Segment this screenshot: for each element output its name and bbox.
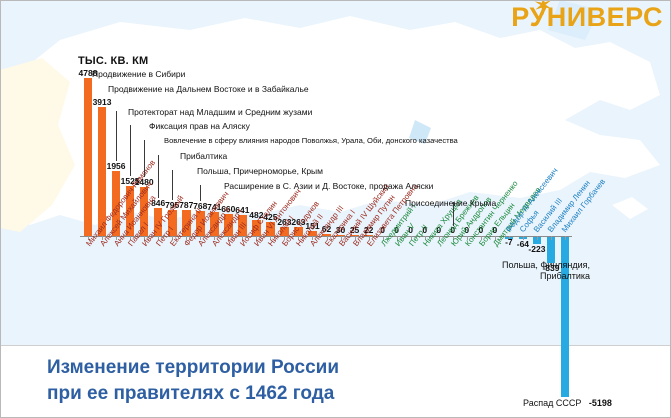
annotation-leader-line — [200, 185, 201, 201]
bar-value-label: 1956 — [101, 161, 131, 171]
page-title-line1: Изменение территории России — [47, 355, 339, 381]
bar-value-label: -223 — [522, 244, 552, 254]
annotation-text: Прибалтика — [180, 151, 227, 161]
axis-tick — [565, 236, 566, 240]
annotation-text: Польша, Причерноморье, Крым — [197, 166, 323, 176]
annotation-text: Продвижение на Дальнем Востоке и в Забай… — [108, 84, 309, 94]
annotation-leader-line — [158, 155, 159, 198]
page-title: Изменение территории России при ее прави… — [47, 355, 339, 406]
annotation-text: Присоединение Крыма — [405, 198, 496, 208]
annotation-leader-line — [130, 125, 131, 176]
ussr-collapse-note: Распад СССР -5198 — [523, 398, 612, 408]
annotation-text: Продвижение в Сибири — [92, 69, 185, 79]
y-axis-unit-label: ТЫС. КВ. КМ — [78, 55, 148, 67]
runivers-logo[interactable]: РУНИВЕРС — [511, 4, 663, 31]
annotation-leader-line — [144, 140, 145, 177]
annotation-text: Расширение в С. Азии и Д. Востоке, прода… — [224, 181, 433, 191]
annotation-text: Вовлечение в сферу влияния народов Повол… — [164, 136, 458, 145]
poland-note: Польша, Финляндия, Прибалтика — [450, 260, 590, 283]
page-title-line2: при ее правителях с 1462 года — [47, 381, 339, 407]
chart-plot-area: 4788391319561525148084679578776874166064… — [0, 0, 671, 345]
star-sparkle-icon — [533, 0, 553, 15]
bar-value-label: 3913 — [87, 97, 117, 107]
infographic-root: РУНИВЕРС ТЫС. КВ. КМ 4788391319561525148… — [0, 0, 671, 418]
axis-tick — [551, 236, 552, 240]
annotation-leader-line — [172, 170, 173, 200]
annotation-leader-line — [116, 111, 117, 161]
annotation-text: Фиксация прав на Аляску — [149, 121, 250, 131]
annotation-text: Протекторат над Младшим и Средним жузами — [128, 107, 312, 117]
